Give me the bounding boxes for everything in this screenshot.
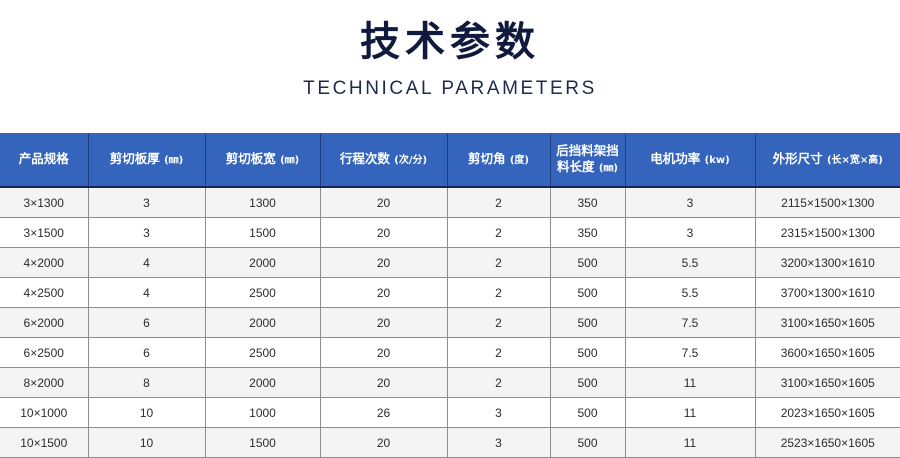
- table-header-row: 产品规格 剪切板厚 (㎜) 剪切板宽 (㎜) 行程次数 (次/分) 剪切角 (度…: [0, 134, 900, 188]
- cell-shear-angle: 2: [447, 248, 550, 278]
- cell-shear-angle: 2: [447, 338, 550, 368]
- cell-backgauge-length: 500: [550, 278, 625, 308]
- table-body: 3×13003130020235032115×1500×13003×150031…: [0, 187, 900, 458]
- cell-product-spec: 3×1300: [0, 187, 88, 218]
- technical-parameters-page: 技术参数 TECHNICAL PARAMETERS 产品规格 剪切板厚 (㎜) …: [0, 0, 900, 426]
- cell-stroke-count: 20: [320, 248, 447, 278]
- cell-shear-thickness: 3: [88, 218, 205, 248]
- cell-shear-thickness: 3: [88, 187, 205, 218]
- cell-motor-power: 3: [625, 218, 755, 248]
- cell-backgauge-length: 350: [550, 218, 625, 248]
- cell-stroke-count: 20: [320, 308, 447, 338]
- cell-dimensions: 3700×1300×1610: [755, 278, 900, 308]
- cell-dimensions: 2023×1650×1605: [755, 398, 900, 428]
- cell-shear-angle: 2: [447, 368, 550, 398]
- column-header-product-spec: 产品规格: [0, 134, 88, 188]
- title-block: 技术参数 TECHNICAL PARAMETERS: [0, 0, 900, 102]
- cell-backgauge-length: 350: [550, 187, 625, 218]
- table-row: 4×2000420002025005.53200×1300×1610: [0, 248, 900, 278]
- cell-backgauge-length: 500: [550, 308, 625, 338]
- cell-dimensions: 2115×1500×1300: [755, 187, 900, 218]
- spec-table-wrapper: 产品规格 剪切板厚 (㎜) 剪切板宽 (㎜) 行程次数 (次/分) 剪切角 (度…: [0, 133, 900, 458]
- cell-shear-thickness: 8: [88, 368, 205, 398]
- cell-shear-thickness: 10: [88, 428, 205, 458]
- cell-shear-thickness: 4: [88, 278, 205, 308]
- cell-product-spec: 6×2500: [0, 338, 88, 368]
- cell-shear-thickness: 6: [88, 308, 205, 338]
- cell-dimensions: 2315×1500×1300: [755, 218, 900, 248]
- cell-backgauge-length: 500: [550, 338, 625, 368]
- table-row: 6×2500625002025007.53600×1650×1605: [0, 338, 900, 368]
- cell-shear-thickness: 10: [88, 398, 205, 428]
- cell-motor-power: 11: [625, 368, 755, 398]
- cell-shear-width: 2000: [205, 248, 320, 278]
- cell-shear-width: 2500: [205, 278, 320, 308]
- cell-backgauge-length: 500: [550, 398, 625, 428]
- cell-motor-power: 7.5: [625, 308, 755, 338]
- cell-product-spec: 4×2000: [0, 248, 88, 278]
- cell-shear-width: 1300: [205, 187, 320, 218]
- cell-backgauge-length: 500: [550, 368, 625, 398]
- cell-shear-angle: 2: [447, 278, 550, 308]
- cell-shear-thickness: 6: [88, 338, 205, 368]
- cell-product-spec: 10×1500: [0, 428, 88, 458]
- cell-shear-width: 1000: [205, 398, 320, 428]
- cell-motor-power: 5.5: [625, 248, 755, 278]
- cell-motor-power: 11: [625, 398, 755, 428]
- page-subtitle: TECHNICAL PARAMETERS: [0, 76, 900, 102]
- cell-shear-angle: 3: [447, 428, 550, 458]
- cell-product-spec: 3×1500: [0, 218, 88, 248]
- column-header-stroke-count: 行程次数 (次/分): [320, 134, 447, 188]
- table-header: 产品规格 剪切板厚 (㎜) 剪切板宽 (㎜) 行程次数 (次/分) 剪切角 (度…: [0, 134, 900, 188]
- cell-motor-power: 7.5: [625, 338, 755, 368]
- cell-shear-width: 2000: [205, 308, 320, 338]
- table-row: 10×1500101500203500112523×1650×1605: [0, 428, 900, 458]
- cell-motor-power: 5.5: [625, 278, 755, 308]
- cell-shear-width: 1500: [205, 218, 320, 248]
- cell-dimensions: 3600×1650×1605: [755, 338, 900, 368]
- cell-product-spec: 8×2000: [0, 368, 88, 398]
- table-row: 4×2500425002025005.53700×1300×1610: [0, 278, 900, 308]
- cell-shear-width: 2000: [205, 368, 320, 398]
- table-row: 10×1000101000263500112023×1650×1605: [0, 398, 900, 428]
- table-row: 8×200082000202500113100×1650×1605: [0, 368, 900, 398]
- cell-shear-angle: 3: [447, 398, 550, 428]
- cell-stroke-count: 20: [320, 368, 447, 398]
- column-header-shear-width: 剪切板宽 (㎜): [205, 134, 320, 188]
- cell-shear-width: 2500: [205, 338, 320, 368]
- cell-shear-angle: 2: [447, 218, 550, 248]
- cell-stroke-count: 26: [320, 398, 447, 428]
- cell-dimensions: 3100×1650×1605: [755, 308, 900, 338]
- table-row: 3×15003150020235032315×1500×1300: [0, 218, 900, 248]
- cell-shear-angle: 2: [447, 187, 550, 218]
- cell-backgauge-length: 500: [550, 248, 625, 278]
- cell-product-spec: 4×2500: [0, 278, 88, 308]
- column-header-shear-angle: 剪切角 (度): [447, 134, 550, 188]
- cell-motor-power: 11: [625, 428, 755, 458]
- cell-shear-thickness: 4: [88, 248, 205, 278]
- cell-product-spec: 6×2000: [0, 308, 88, 338]
- cell-dimensions: 3100×1650×1605: [755, 368, 900, 398]
- cell-stroke-count: 20: [320, 428, 447, 458]
- column-header-motor-power: 电机功率 (kw): [625, 134, 755, 188]
- cell-stroke-count: 20: [320, 278, 447, 308]
- page-title: 技术参数: [0, 18, 900, 66]
- table-row: 3×13003130020235032115×1500×1300: [0, 187, 900, 218]
- cell-backgauge-length: 500: [550, 428, 625, 458]
- table-row: 6×2000620002025007.53100×1650×1605: [0, 308, 900, 338]
- column-header-shear-thickness: 剪切板厚 (㎜): [88, 134, 205, 188]
- technical-parameters-table: 产品规格 剪切板厚 (㎜) 剪切板宽 (㎜) 行程次数 (次/分) 剪切角 (度…: [0, 133, 900, 458]
- cell-product-spec: 10×1000: [0, 398, 88, 428]
- cell-stroke-count: 20: [320, 338, 447, 368]
- cell-stroke-count: 20: [320, 187, 447, 218]
- cell-shear-angle: 2: [447, 308, 550, 338]
- column-header-backgauge-length: 后挡料架挡料长度 (㎜): [550, 134, 625, 188]
- column-header-dimensions: 外形尺寸 (长×宽×高): [755, 134, 900, 188]
- cell-motor-power: 3: [625, 187, 755, 218]
- cell-dimensions: 2523×1650×1605: [755, 428, 900, 458]
- cell-stroke-count: 20: [320, 218, 447, 248]
- cell-shear-width: 1500: [205, 428, 320, 458]
- cell-dimensions: 3200×1300×1610: [755, 248, 900, 278]
